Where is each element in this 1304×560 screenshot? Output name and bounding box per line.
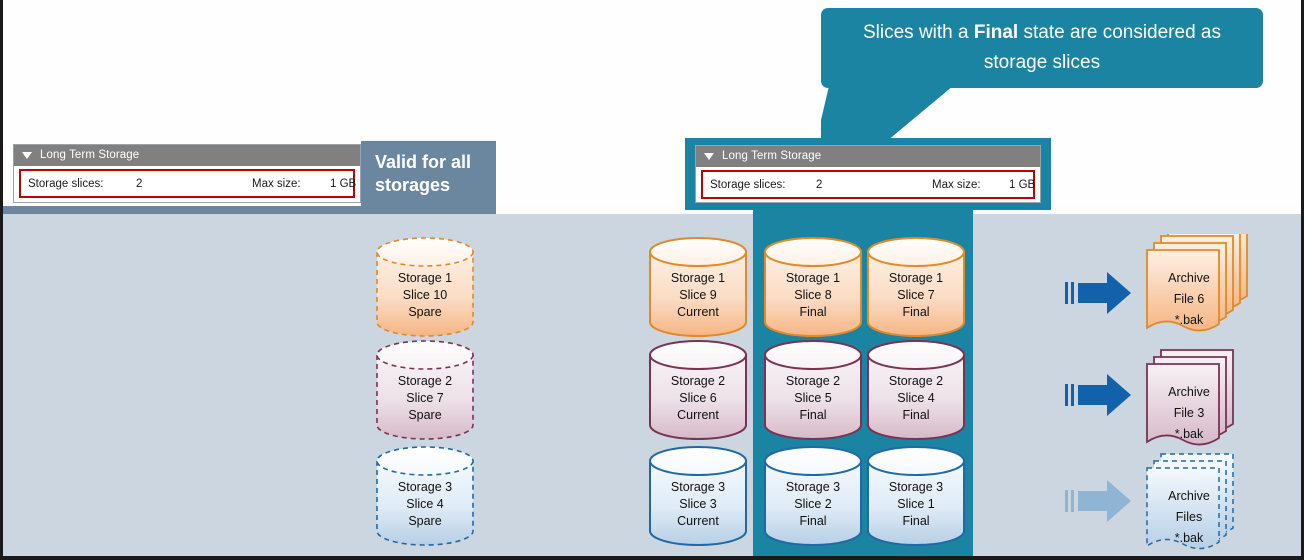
callout-bubble: Slices with a Final state are considered… xyxy=(821,8,1263,88)
long-term-storage-panel-right[interactable]: Long Term Storage Storage slices: 2 Max … xyxy=(695,145,1041,203)
flow-arrow-archive-x xyxy=(1065,476,1135,532)
cylinder-slice-name: Slice 1 xyxy=(866,496,966,513)
cylinder-state: Final xyxy=(763,407,863,424)
cylinder-state: Final xyxy=(866,513,966,530)
cylinder-state: Spare xyxy=(375,407,475,424)
cylinder-label-s1-slice8: Storage 1Slice 8Final xyxy=(763,270,863,321)
cylinder-storage-name: Storage 2 xyxy=(648,373,748,390)
cylinder-storage-name: Storage 3 xyxy=(763,479,863,496)
cylinder-state: Spare xyxy=(375,513,475,530)
storage-cylinder-s1-slice8[interactable]: Storage 1Slice 8Final xyxy=(763,238,863,338)
archive-file-stack-archive-6[interactable]: ArchiveFile 6*.bak xyxy=(1145,234,1255,346)
valid-for-all-storages-label: Valid for all storages xyxy=(361,141,496,206)
cylinder-label-s1-slice7: Storage 1Slice 7Final xyxy=(866,270,966,321)
storage-cylinder-s2-slice5[interactable]: Storage 2Slice 5Final xyxy=(763,341,863,441)
callout-text-after: state are considered as storage slices xyxy=(984,22,1221,73)
cylinder-label-s2-slice4: Storage 2Slice 4Final xyxy=(866,373,966,424)
storage-cylinder-s1-slice7[interactable]: Storage 1Slice 7Final xyxy=(866,238,966,338)
cylinder-slice-name: Slice 9 xyxy=(648,287,748,304)
cylinder-slice-name: Slice 8 xyxy=(763,287,863,304)
panel-left-slices-value[interactable]: 2 xyxy=(136,178,142,190)
flow-arrow-archive-6 xyxy=(1065,268,1135,324)
storage-cylinder-s3-slice2[interactable]: Storage 3Slice 2Final xyxy=(763,447,863,547)
callout-text: Slices with a Final state are considered… xyxy=(839,18,1245,78)
panel-left-title: Long Term Storage xyxy=(40,145,139,166)
cylinder-storage-name: Storage 3 xyxy=(866,479,966,496)
cylinder-storage-name: Storage 1 xyxy=(648,270,748,287)
storage-cylinder-s3-slice4[interactable]: Storage 3Slice 4Spare xyxy=(375,447,475,547)
cylinder-storage-name: Storage 3 xyxy=(648,479,748,496)
cylinder-storage-name: Storage 1 xyxy=(375,270,475,287)
storage-cylinder-s2-slice6[interactable]: Storage 2Slice 6Current xyxy=(648,341,748,441)
cylinder-label-s2-slice6: Storage 2Slice 6Current xyxy=(648,373,748,424)
panel-right-maxsize-label: Max size: xyxy=(932,179,981,191)
panel-right-title: Long Term Storage xyxy=(722,146,821,167)
cylinder-label-s3-slice1: Storage 3Slice 1Final xyxy=(866,479,966,530)
cylinder-slice-name: Slice 2 xyxy=(763,496,863,513)
cylinder-slice-name: Slice 4 xyxy=(375,496,475,513)
cylinder-label-s1-slice10: Storage 1Slice 10Spare xyxy=(375,270,475,321)
archive-file-stack-archive-3[interactable]: ArchiveFile 3*.bak xyxy=(1145,348,1255,460)
collapse-triangle-icon[interactable] xyxy=(22,152,32,159)
panel-left-titlebar[interactable]: Long Term Storage xyxy=(14,145,360,166)
storage-cylinder-s2-slice4[interactable]: Storage 2Slice 4Final xyxy=(866,341,966,441)
cylinder-storage-name: Storage 3 xyxy=(375,479,475,496)
callout-text-bold: Final xyxy=(974,22,1018,43)
panel-right-slices-label: Storage slices: xyxy=(710,179,785,191)
panel-left-maxsize-value[interactable]: 1 GB xyxy=(330,178,356,190)
panel-left-slices-label: Storage slices: xyxy=(28,178,103,190)
cylinder-state: Final xyxy=(866,407,966,424)
panel-left-maxsize-label: Max size: xyxy=(252,178,301,190)
archive-line-3: *.bak xyxy=(1147,528,1231,549)
cylinder-slice-name: Slice 3 xyxy=(648,496,748,513)
cylinder-state: Current xyxy=(648,304,748,321)
cylinder-slice-name: Slice 7 xyxy=(375,390,475,407)
archive-label-archive-x: ArchiveFiles*.bak xyxy=(1147,486,1231,549)
cylinder-storage-name: Storage 1 xyxy=(763,270,863,287)
archive-line-2: Files xyxy=(1147,507,1231,528)
archive-label-archive-3: ArchiveFile 3*.bak xyxy=(1147,382,1231,445)
valid-for-all-storages-text: Valid for all storages xyxy=(375,151,496,197)
cylinder-storage-name: Storage 2 xyxy=(375,373,475,390)
cylinder-label-s1-slice9: Storage 1Slice 9Current xyxy=(648,270,748,321)
cylinder-state: Current xyxy=(648,513,748,530)
cylinder-slice-name: Slice 5 xyxy=(763,390,863,407)
cylinder-slice-name: Slice 4 xyxy=(866,390,966,407)
panel-right-maxsize-value[interactable]: 1 GB xyxy=(1009,179,1035,191)
cylinder-state: Final xyxy=(763,304,863,321)
archive-line-1: Archive xyxy=(1147,486,1231,507)
collapse-triangle-icon[interactable] xyxy=(704,153,714,160)
flow-arrow-archive-3 xyxy=(1065,370,1135,426)
storage-cylinder-s2-slice7[interactable]: Storage 2Slice 7Spare xyxy=(375,341,475,441)
storage-cylinder-s3-slice1[interactable]: Storage 3Slice 1Final xyxy=(866,447,966,547)
storage-cylinder-s1-slice9[interactable]: Storage 1Slice 9Current xyxy=(648,238,748,338)
panel-right-slices-value[interactable]: 2 xyxy=(816,179,822,191)
archive-line-2: File 3 xyxy=(1147,403,1231,424)
panel-right-titlebar[interactable]: Long Term Storage xyxy=(696,146,1040,167)
cylinder-storage-name: Storage 1 xyxy=(866,270,966,287)
cylinder-label-s2-slice5: Storage 2Slice 5Final xyxy=(763,373,863,424)
cylinder-label-s3-slice4: Storage 3Slice 4Spare xyxy=(375,479,475,530)
cylinder-label-s3-slice3: Storage 3Slice 3Current xyxy=(648,479,748,530)
storage-cylinder-s3-slice3[interactable]: Storage 3Slice 3Current xyxy=(648,447,748,547)
cylinder-state: Final xyxy=(763,513,863,530)
panel-left-body: Storage slices: 2 Max size: 1 GB xyxy=(14,166,360,201)
cylinder-slice-name: Slice 10 xyxy=(375,287,475,304)
cylinder-label-s2-slice7: Storage 2Slice 7Spare xyxy=(375,373,475,424)
diagram-canvas: Slices with a Final state are considered… xyxy=(0,0,1304,560)
callout-text-before: Slices with a xyxy=(863,22,974,43)
archive-line-2: File 6 xyxy=(1147,289,1231,310)
long-term-storage-panel-left[interactable]: Long Term Storage Storage slices: 2 Max … xyxy=(13,144,361,203)
cylinder-state: Final xyxy=(866,304,966,321)
storage-cylinder-s1-slice10[interactable]: Storage 1Slice 10Spare xyxy=(375,238,475,338)
cylinder-storage-name: Storage 2 xyxy=(763,373,863,390)
archive-file-stack-archive-x[interactable]: ArchiveFiles*.bak xyxy=(1145,452,1255,560)
archive-label-archive-6: ArchiveFile 6*.bak xyxy=(1147,268,1231,331)
panel-right-body: Storage slices: 2 Max size: 1 GB xyxy=(696,167,1040,202)
cylinder-slice-name: Slice 7 xyxy=(866,287,966,304)
cylinder-state: Current xyxy=(648,407,748,424)
cylinder-storage-name: Storage 2 xyxy=(866,373,966,390)
archive-line-1: Archive xyxy=(1147,382,1231,403)
cylinder-state: Spare xyxy=(375,304,475,321)
archive-line-3: *.bak xyxy=(1147,424,1231,445)
cylinder-slice-name: Slice 6 xyxy=(648,390,748,407)
archive-line-3: *.bak xyxy=(1147,310,1231,331)
cylinder-label-s3-slice2: Storage 3Slice 2Final xyxy=(763,479,863,530)
archive-line-1: Archive xyxy=(1147,268,1231,289)
